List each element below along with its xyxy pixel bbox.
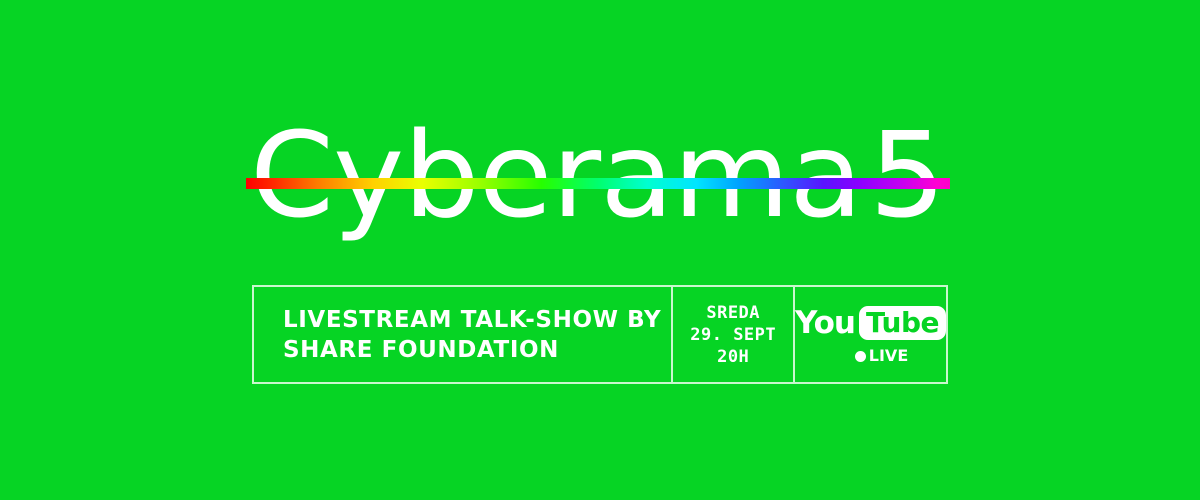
record-dot-icon (855, 351, 866, 362)
youtube-tube-text: Tube (866, 308, 939, 337)
live-label: LIVE (869, 348, 908, 364)
youtube-live-logo[interactable]: You Tube LIVE (795, 305, 946, 364)
headline-cell: LIVESTREAM TALK-SHOW BY SHARE FOUNDATION (254, 287, 671, 382)
youtube-tube-box: Tube (859, 306, 946, 340)
page-title: Cyberama5 (0, 112, 1200, 238)
event-datetime: SREDA 29. SEPT 20H (690, 302, 776, 368)
youtube-live-badge: LIVE (855, 348, 908, 364)
youtube-wordmark: You Tube (795, 305, 946, 341)
rainbow-gradient-rule (246, 178, 950, 189)
cyberama-promo-banner: Cyberama5 LIVESTREAM TALK-SHOW BY SHARE … (0, 0, 1200, 500)
title-block: Cyberama5 (0, 112, 1200, 242)
headline-text: LIVESTREAM TALK-SHOW BY SHARE FOUNDATION (283, 305, 661, 365)
youtube-you-text: You (795, 308, 855, 339)
youtube-live-cell[interactable]: You Tube LIVE (795, 287, 946, 382)
date-cell: SREDA 29. SEPT 20H (671, 287, 795, 382)
title-edition: 5 (869, 112, 945, 238)
info-bar: LIVESTREAM TALK-SHOW BY SHARE FOUNDATION… (252, 285, 948, 384)
title-name: Cyberama (250, 112, 862, 238)
